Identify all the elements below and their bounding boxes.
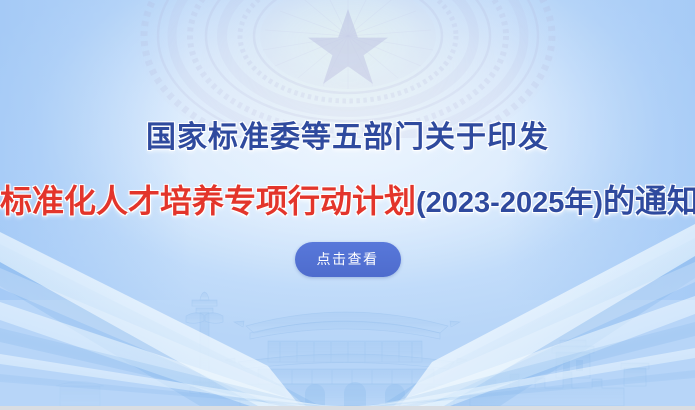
banner-title-plan-name: 标准化人才培养专项行动计划 bbox=[0, 183, 416, 219]
announcement-banner: 国家标准委等五部门关于印发 标准化人才培养专项行动计划(2023-2025年)的… bbox=[0, 0, 695, 410]
banner-title-suffix: 的通知 bbox=[603, 183, 695, 219]
cta-container: 点击查看 bbox=[0, 242, 695, 277]
banner-title-year-range: (2023-2025年) bbox=[416, 187, 603, 219]
banner-title-line-1: 国家标准委等五部门关于印发 bbox=[0, 118, 695, 158]
banner-content: 国家标准委等五部门关于印发 标准化人才培养专项行动计划(2023-2025年)的… bbox=[0, 0, 695, 410]
banner-title-line-2: 标准化人才培养专项行动计划(2023-2025年)的通知 bbox=[0, 180, 695, 224]
view-details-button[interactable]: 点击查看 bbox=[295, 242, 401, 277]
